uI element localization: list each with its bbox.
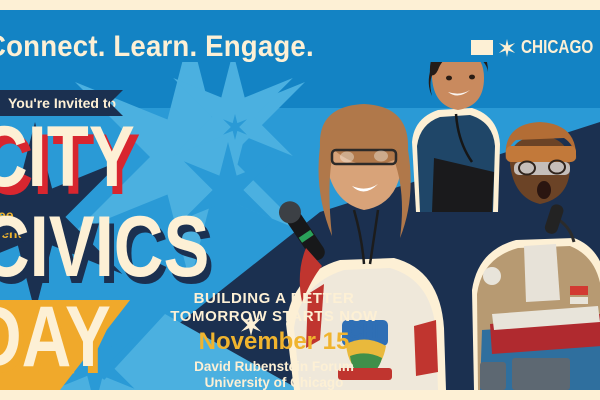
event-details: BUILDING A BETTER TOMORROW STARTS NOW No… xyxy=(168,290,380,390)
event-date: November 15 xyxy=(168,329,380,354)
chicago-logo: CHICAGO xyxy=(471,37,600,58)
title-line-city: CITY xyxy=(0,122,135,193)
event-venue: David Rubenstein Forum University of Chi… xyxy=(168,359,380,390)
title-line-day: DAY xyxy=(0,302,111,373)
chair-left xyxy=(480,362,506,390)
venue-name: David Rubenstein Forum xyxy=(168,359,380,376)
bottom-cream-strip xyxy=(0,390,600,400)
venue-institution: University of Chicago xyxy=(168,375,380,390)
photo-speaker-person-beanie xyxy=(470,100,600,390)
tagline-text: Connect. Learn. Engage. xyxy=(0,30,314,62)
top-banner: Connect. Learn. Engage. CHICAGO xyxy=(0,10,600,62)
title-line-civics: CIVICS xyxy=(0,212,209,283)
event-promo-poster: Connect. Learn. Engage. CHICAGO xyxy=(0,0,600,400)
poster-artwork: CHI You're Invited to CITY xyxy=(0,62,600,390)
six-point-star-icon xyxy=(498,39,516,57)
details-headline-line2: TOMORROW STARTS NOW xyxy=(168,308,380,326)
logo-wordmark: CHICAGO xyxy=(521,37,593,58)
details-headline: BUILDING A BETTER TOMORROW STARTS NOW xyxy=(168,290,380,325)
logo-rectangle-icon xyxy=(471,40,493,55)
chair-right xyxy=(512,358,570,390)
details-headline-line1: BUILDING A BETTER xyxy=(168,290,380,308)
